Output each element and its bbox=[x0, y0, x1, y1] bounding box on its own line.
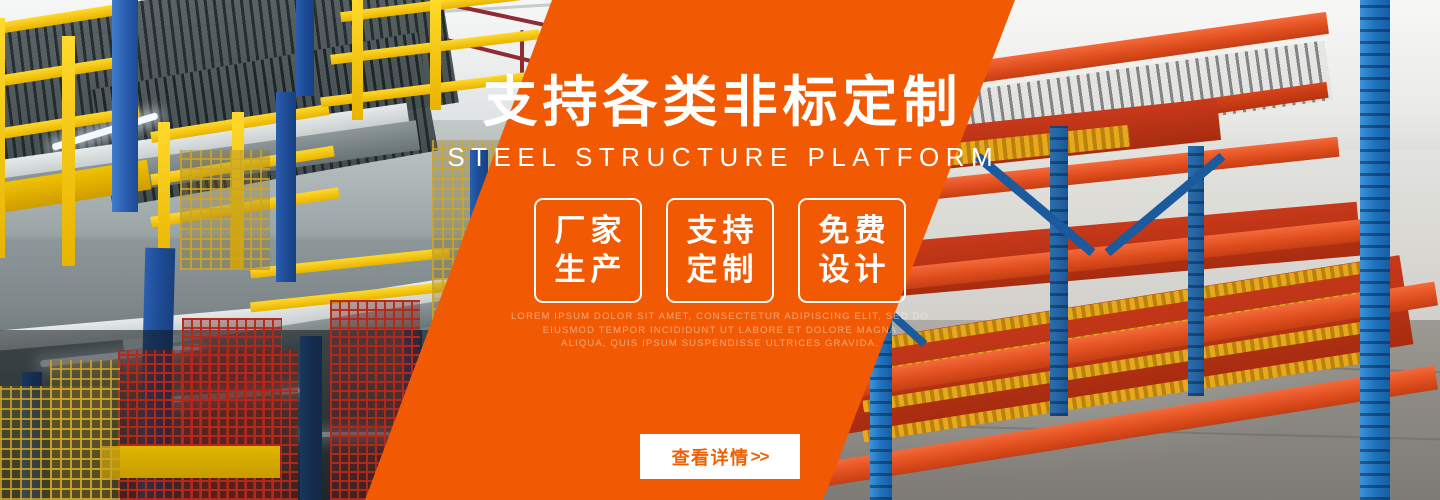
banner-content: 支持各类非标定制 STEEL STRUCTURE PLATFORM 厂家 生产 … bbox=[0, 0, 1440, 500]
promo-banner: 支持各类非标定制 STEEL STRUCTURE PLATFORM 厂家 生产 … bbox=[0, 0, 1440, 500]
description-line-1: LOREM IPSUM DOLOR SIT AMET, CONSECTETUR … bbox=[0, 310, 1440, 324]
feature-badge-customization: 支持 定制 bbox=[666, 198, 774, 303]
badge-line-1: 厂家 bbox=[550, 213, 627, 250]
cta-label: 查看详情 bbox=[672, 444, 750, 470]
cta-container: 查看详情>> bbox=[0, 434, 1440, 479]
badge-line-2: 定制 bbox=[682, 252, 759, 289]
description-line-3: ALIQUA, QUIS IPSUM SUSPENDISSE ULTRICES … bbox=[0, 337, 1440, 351]
badge-line-2: 设计 bbox=[814, 252, 891, 289]
page-title: 支持各类非标定制 bbox=[0, 72, 1440, 133]
view-details-button[interactable]: 查看详情>> bbox=[640, 434, 800, 479]
description-text: LOREM IPSUM DOLOR SIT AMET, CONSECTETUR … bbox=[0, 310, 1440, 351]
feature-badge-group: 厂家 生产 支持 定制 免费 设计 bbox=[0, 198, 1440, 303]
subtitle: STEEL STRUCTURE PLATFORM bbox=[0, 142, 1440, 173]
badge-line-1: 支持 bbox=[682, 213, 759, 250]
badge-line-2: 生产 bbox=[550, 252, 627, 289]
feature-badge-free-design: 免费 设计 bbox=[798, 198, 906, 303]
chevron-right-icon: >> bbox=[751, 447, 769, 467]
description-line-2: EIUSMOD TEMPOR INCIDIDUNT UT LABORE ET D… bbox=[0, 324, 1440, 338]
badge-line-1: 免费 bbox=[814, 213, 891, 250]
feature-badge-manufacturer: 厂家 生产 bbox=[534, 198, 642, 303]
